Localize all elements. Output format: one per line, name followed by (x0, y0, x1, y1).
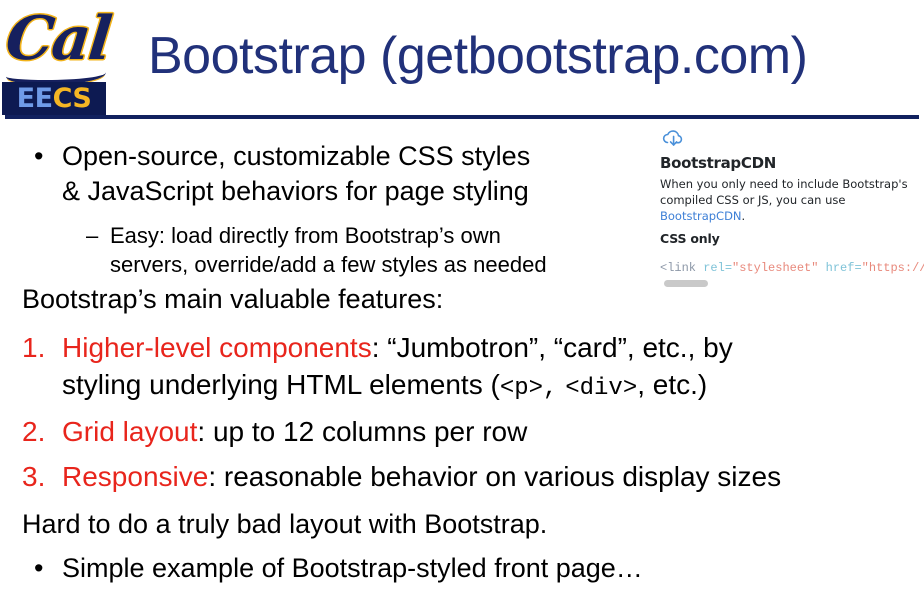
bullet-1-line-1: Open-source, customizable CSS styles (62, 139, 530, 173)
sub-bullet-marker: – (86, 221, 98, 250)
list-item-1-rest: : “Jumbotron”, “card”, etc., by (372, 332, 733, 363)
bootstrapcdn-link[interactable]: BootstrapCDN (660, 209, 742, 223)
eecs-wordmark: EECS (2, 82, 106, 115)
list-item-2-rest: : up to 12 columns per row (197, 416, 527, 447)
code-horizontal-scrollbar[interactable] (664, 280, 884, 287)
eecs-ee-text: EE (17, 83, 53, 114)
list-item-3-rest: : reasonable behavior on various display… (208, 461, 781, 492)
list-item-1-code-p: <p>, (500, 375, 558, 402)
cdn-description-part2: . (742, 209, 746, 223)
bullet-marker: • (34, 139, 43, 173)
list-item-1-line2-post: , etc.) (637, 369, 707, 400)
list-number-3: 3. (22, 459, 45, 495)
list-item-1-line-2: styling underlying HTML elements (<p>, <… (62, 367, 707, 407)
code-token-href-value: "https://st (862, 261, 924, 275)
sub-bullet-line-2: servers, override/add a few styles as ne… (110, 250, 547, 279)
final-bullet-marker: • (34, 551, 43, 585)
cloud-download-icon (661, 128, 687, 152)
final-bullet-text: Simple example of Bootstrap-styled front… (62, 551, 643, 585)
list-number-2: 2. (22, 414, 45, 450)
code-scrollbar-thumb[interactable] (664, 280, 708, 287)
list-item-3: Responsive: reasonable behavior on vario… (62, 459, 781, 495)
eecs-cs-text: CS (53, 83, 92, 114)
cdn-description-part1: When you only need to include Bootstrap'… (660, 177, 908, 207)
list-item-1-line2-pre: styling underlying HTML elements ( (62, 369, 500, 400)
cdn-panel-description: When you only need to include Bootstrap'… (660, 176, 910, 224)
slide-header: Cal EECS Bootstrap (getbootstrap.com) (0, 0, 924, 121)
features-intro: Bootstrap’s main valuable features: (22, 282, 443, 316)
list-item-1-code-div: <div> (565, 375, 637, 402)
closing-line: Hard to do a truly bad layout with Boots… (22, 507, 547, 541)
code-token-rel-attr: rel= (703, 261, 732, 275)
list-item-2-term: Grid layout (62, 416, 197, 447)
code-token-stylesheet-value: "stylesheet" (732, 261, 818, 275)
list-item-1-term: Higher-level components (62, 332, 372, 363)
cal-eecs-logo: Cal EECS (2, 2, 114, 117)
cdn-code-snippet: <link rel="stylesheet" href="https://st (660, 260, 924, 276)
list-item-2: Grid layout: up to 12 columns per row (62, 414, 527, 450)
cdn-panel-heading: BootstrapCDN (660, 154, 776, 172)
bootstrap-cdn-screenshot: BootstrapCDN When you only need to inclu… (656, 126, 924, 294)
list-item-3-term: Responsive (62, 461, 208, 492)
eecs-logo-box: EECS (2, 82, 106, 115)
sub-bullet-line-1: Easy: load directly from Bootstrap’s own (110, 221, 501, 250)
list-item-1-line-1: Higher-level components: “Jumbotron”, “c… (62, 330, 733, 366)
header-divider (5, 115, 919, 119)
bullet-1-line-2: & JavaScript behaviors for page styling (62, 174, 529, 208)
code-token-space (818, 261, 825, 275)
code-token-href-attr: href= (826, 261, 862, 275)
code-token-tag: <link (660, 261, 703, 275)
list-number-1: 1. (22, 330, 45, 366)
cdn-css-only-heading: CSS only (660, 231, 720, 247)
slide-title: Bootstrap (getbootstrap.com) (148, 16, 918, 96)
